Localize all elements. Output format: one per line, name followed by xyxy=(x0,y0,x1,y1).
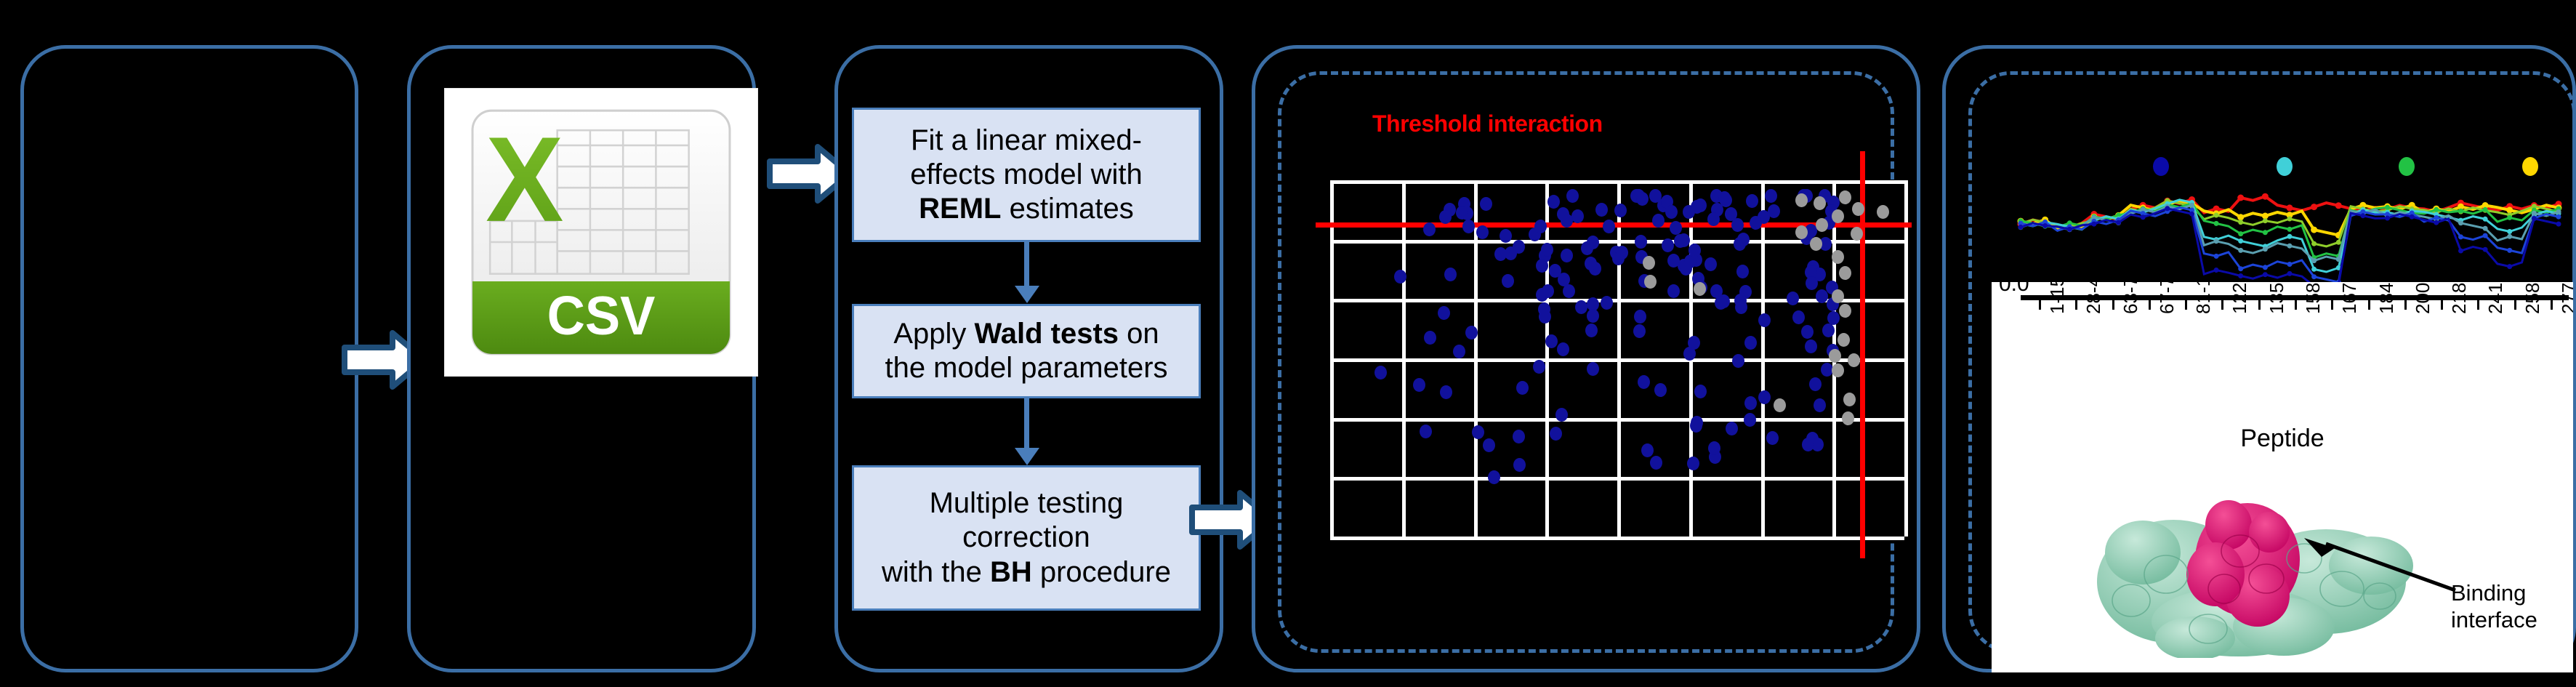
data-point-blue xyxy=(1424,331,1436,345)
x-axis-tick xyxy=(2221,300,2223,310)
data-point-blue xyxy=(1539,310,1551,324)
x-axis-tick-label: 277-284 xyxy=(2558,282,2573,314)
data-point-blue xyxy=(1476,225,1489,239)
flow-connector-1-arrowhead xyxy=(1015,286,1039,303)
chart-marker xyxy=(2507,229,2512,234)
data-point-gray xyxy=(1851,227,1863,241)
data-point-blue xyxy=(1563,284,1575,298)
data-point-blue xyxy=(1801,325,1814,339)
data-point-blue xyxy=(1513,430,1525,443)
chart-marker xyxy=(2214,268,2219,273)
data-point-blue xyxy=(1650,456,1662,470)
binding-label-line2: interface xyxy=(2451,607,2537,634)
data-point-gray xyxy=(1832,289,1844,303)
legend-dot-2 xyxy=(2399,157,2415,176)
data-point-blue xyxy=(1566,189,1579,203)
data-point-gray xyxy=(1832,250,1844,264)
chart-marker xyxy=(2507,264,2512,269)
chart-marker xyxy=(2141,214,2146,220)
grid-line-horizontal xyxy=(1330,180,1904,184)
chart-marker xyxy=(2556,222,2561,227)
chart-marker xyxy=(2165,206,2170,211)
data-point-blue xyxy=(1483,438,1495,452)
data-point-blue xyxy=(1802,438,1814,451)
data-point-blue xyxy=(1792,310,1805,324)
chart-marker xyxy=(2262,193,2269,200)
data-point-blue xyxy=(1654,383,1667,397)
grid-line-horizontal xyxy=(1330,477,1904,481)
chart-marker xyxy=(2263,265,2268,270)
data-point-gray xyxy=(1829,349,1841,363)
data-point-blue xyxy=(1744,336,1757,350)
data-point-blue xyxy=(1444,268,1457,281)
data-point-gray xyxy=(1839,190,1851,204)
data-point-blue xyxy=(1687,457,1699,470)
data-point-blue xyxy=(1603,220,1615,233)
chart-marker xyxy=(2189,212,2194,217)
data-point-blue xyxy=(1678,233,1690,247)
data-point-gray xyxy=(1643,256,1655,270)
data-point-blue xyxy=(1545,334,1558,348)
legend-dot-3 xyxy=(2522,157,2538,176)
chart-marker xyxy=(2311,258,2317,263)
chart-marker xyxy=(2091,222,2096,227)
flow-step-wald-tests[interactable]: Apply Wald tests on the model parameters xyxy=(852,304,1201,398)
data-point-blue xyxy=(1726,422,1738,435)
chart-marker xyxy=(2238,273,2243,278)
data-point-blue xyxy=(1635,235,1647,249)
x-axis-tick xyxy=(2514,300,2516,310)
data-point-blue xyxy=(1737,233,1750,246)
data-point-blue xyxy=(1516,381,1529,395)
data-point-blue xyxy=(1439,210,1452,224)
x-axis-tick xyxy=(2368,300,2370,310)
x-axis-tick xyxy=(2185,300,2187,310)
x-axis-tick xyxy=(2551,300,2553,310)
data-point-blue xyxy=(1822,324,1835,337)
data-point-blue xyxy=(1420,425,1432,438)
data-point-blue xyxy=(1555,408,1568,422)
data-point-blue xyxy=(1505,246,1517,260)
data-point-blue xyxy=(1708,441,1720,455)
data-point-blue xyxy=(1707,212,1720,226)
chart-marker xyxy=(2287,234,2293,239)
data-point-blue xyxy=(1536,259,1548,273)
data-point-blue xyxy=(1670,221,1682,235)
flow-connector-2 xyxy=(1024,398,1029,449)
chart-marker xyxy=(2336,257,2341,262)
data-point-blue xyxy=(1814,398,1826,412)
flow-step-bh-correction[interactable]: Multiple testing correction with the BH … xyxy=(852,465,1201,611)
data-point-blue xyxy=(1690,419,1702,433)
data-point-blue xyxy=(1585,257,1597,270)
chart-marker xyxy=(2116,220,2121,225)
flow-step3-line3-post: procedure xyxy=(1032,556,1171,588)
data-point-gray xyxy=(1852,202,1864,216)
data-point-blue xyxy=(1765,189,1777,203)
x-axis-tick xyxy=(2039,300,2041,310)
data-point-blue xyxy=(1731,218,1744,232)
x-axis-tick xyxy=(2112,300,2114,310)
data-point-gray xyxy=(1838,333,1850,347)
chart-marker xyxy=(2483,233,2488,238)
x-axis-tick-label: 67-75 xyxy=(2156,282,2178,314)
data-point-blue xyxy=(1758,313,1771,327)
data-point-blue xyxy=(1634,310,1646,324)
data-point-blue xyxy=(1571,209,1584,223)
chart-marker xyxy=(2287,204,2293,211)
data-point-blue xyxy=(1744,396,1757,410)
chart-marker xyxy=(2385,216,2390,221)
data-point-blue xyxy=(1641,443,1654,457)
data-point-gray xyxy=(1814,196,1826,210)
x-axis-tick-label: 241-257 xyxy=(2484,282,2507,314)
y-axis-tick-label: 0.0 xyxy=(1999,282,2029,297)
chart-marker xyxy=(2238,248,2243,253)
data-point-blue xyxy=(1667,284,1680,298)
chart-marker xyxy=(2263,230,2268,235)
chart-marker xyxy=(2458,220,2463,225)
data-point-gray xyxy=(1694,282,1706,296)
data-point-gray xyxy=(1795,193,1808,207)
data-point-blue xyxy=(1465,326,1478,340)
csv-icon-label: CSV xyxy=(547,285,656,346)
data-point-blue xyxy=(1394,270,1406,284)
grid-line-horizontal xyxy=(1330,537,1904,540)
x-axis-tick xyxy=(2295,300,2297,310)
csv-icon-x-letter: X xyxy=(486,111,563,246)
chart-marker xyxy=(2018,225,2024,230)
threshold-interaction-label: Threshold interaction xyxy=(1372,111,1603,137)
data-point-blue xyxy=(1616,246,1628,260)
chart-marker xyxy=(2434,220,2439,225)
data-point-blue xyxy=(1472,425,1484,439)
data-point-blue xyxy=(1453,345,1465,358)
chart-marker xyxy=(2532,216,2537,221)
x-axis-tick xyxy=(2441,300,2443,310)
chart-marker xyxy=(2238,266,2243,271)
data-point-blue xyxy=(1649,189,1662,203)
chart-marker xyxy=(2458,209,2463,214)
grid-line-horizontal xyxy=(1330,418,1904,422)
x-axis-tick xyxy=(2331,300,2333,310)
chart-marker xyxy=(2483,247,2488,252)
data-point-gray xyxy=(1848,353,1860,367)
x-axis-tick-label: 63-73 xyxy=(2120,282,2142,314)
chart-marker xyxy=(2238,220,2243,225)
flow-step1-reml: REML xyxy=(919,193,1001,225)
data-point-blue xyxy=(1758,390,1771,404)
chart-marker xyxy=(2483,226,2488,231)
data-point-gray xyxy=(1832,363,1844,377)
x-axis-tick xyxy=(2477,300,2479,310)
csv-file-icon[interactable]: X CSV xyxy=(445,89,757,376)
binding-interface-label: Binding interface xyxy=(2451,580,2537,633)
data-point-blue xyxy=(1704,257,1717,271)
x-axis-tick-label: 135-144 xyxy=(2266,282,2288,314)
data-point-gray xyxy=(1843,393,1856,406)
chart-marker xyxy=(2214,221,2219,226)
peptide-line-chart xyxy=(1992,180,2573,297)
data-point-blue xyxy=(1715,296,1727,310)
data-point-blue xyxy=(1805,340,1817,353)
data-point-blue xyxy=(1746,194,1758,208)
data-point-gray xyxy=(1839,304,1851,318)
data-point-blue xyxy=(1806,276,1818,290)
flow-step1-line2: effects model with xyxy=(910,158,1142,190)
data-point-blue xyxy=(1633,324,1646,338)
chart-marker xyxy=(2507,215,2512,220)
chart-legend xyxy=(1992,154,2573,179)
chart-marker xyxy=(2287,227,2293,232)
data-point-blue xyxy=(1587,236,1599,249)
chart-marker xyxy=(2434,207,2439,212)
chart-marker xyxy=(2506,207,2513,214)
data-point-blue xyxy=(1456,206,1468,220)
line-chart-svg xyxy=(1992,180,2573,297)
x-axis-tick-label: 184-199 xyxy=(2375,282,2398,314)
chart-marker xyxy=(2311,267,2317,272)
chart-marker xyxy=(2287,271,2293,276)
chart-marker xyxy=(2263,272,2268,277)
x-axis-tick-label: 258-266 xyxy=(2521,282,2544,314)
data-point-blue xyxy=(1440,385,1452,399)
data-point-gray xyxy=(1644,275,1657,289)
data-point-blue xyxy=(1683,205,1695,219)
data-point-blue xyxy=(1601,296,1613,310)
chart-marker xyxy=(2287,262,2293,267)
x-axis-tick-label: 1-15 xyxy=(2046,282,2069,314)
data-point-gray xyxy=(1839,266,1851,280)
figure-card: 0.0 1-1528-4463-7367-7581-101122-129135-… xyxy=(1992,282,2573,672)
x-axis-tick-label: 200-214 xyxy=(2412,282,2434,314)
chart-marker xyxy=(2458,249,2463,254)
chart-marker xyxy=(2336,240,2341,245)
x-axis-tick xyxy=(2149,300,2151,310)
data-point-blue xyxy=(1462,220,1475,233)
data-point-gray xyxy=(1842,411,1854,425)
data-point-blue xyxy=(1694,385,1707,398)
data-point-gray xyxy=(1816,218,1828,232)
data-point-blue xyxy=(1735,300,1747,314)
flow-step3-bh: BH xyxy=(990,556,1032,588)
chart-marker xyxy=(2434,215,2439,220)
data-point-gray xyxy=(1832,209,1844,223)
flow-step2-pre: Apply xyxy=(893,318,974,350)
data-point-blue xyxy=(1547,195,1560,209)
chart-marker xyxy=(2311,274,2317,279)
data-point-blue xyxy=(1488,470,1500,484)
data-point-blue xyxy=(1744,413,1756,427)
legend-dot-0 xyxy=(2153,157,2169,176)
x-axis-tick-label: 28-44 xyxy=(2082,282,2105,314)
diagram-canvas: X CSV Fit a linear mixed- effects model … xyxy=(0,0,2576,687)
chart-marker xyxy=(2311,227,2317,233)
data-point-blue xyxy=(1500,229,1512,243)
x-axis-tick xyxy=(2404,300,2407,310)
chart-marker xyxy=(2556,214,2561,220)
chart-marker xyxy=(2214,238,2219,244)
data-point-blue xyxy=(1480,197,1492,211)
x-axis-tick-label: 218-237 xyxy=(2448,282,2471,314)
scatter-plot xyxy=(1330,180,1904,537)
data-point-blue xyxy=(1585,324,1598,337)
flow-step3-line2: correction xyxy=(962,521,1090,553)
flow-step1-line3-rest: estimates xyxy=(1002,193,1134,225)
data-point-blue xyxy=(1665,205,1678,219)
data-point-blue xyxy=(1549,264,1561,278)
data-point-blue xyxy=(1587,362,1599,376)
data-point-blue xyxy=(1542,284,1554,298)
input-panel xyxy=(20,45,358,672)
x-axis-tick-label: 167-180 xyxy=(2338,282,2361,314)
data-point-blue xyxy=(1557,207,1569,221)
data-point-blue xyxy=(1513,458,1526,472)
binding-interface-arrow xyxy=(2297,538,2464,596)
data-point-blue xyxy=(1374,366,1387,379)
data-point-blue xyxy=(1732,354,1744,368)
data-point-blue xyxy=(1423,222,1436,236)
chart-marker xyxy=(2238,238,2243,244)
chart-marker xyxy=(2483,217,2488,222)
chart-marker xyxy=(2214,254,2219,259)
chart-marker xyxy=(2458,234,2463,239)
data-point-blue xyxy=(1718,191,1731,205)
data-point-blue xyxy=(1413,378,1425,392)
data-point-gray xyxy=(1774,398,1786,412)
data-point-blue xyxy=(1766,431,1779,445)
x-axis-tick-label: 122-129 xyxy=(2229,282,2251,314)
data-point-gray xyxy=(1810,237,1822,251)
data-point-blue xyxy=(1689,244,1701,257)
data-point-blue xyxy=(1652,214,1665,228)
data-point-blue xyxy=(1816,289,1828,303)
data-point-blue xyxy=(1575,300,1587,314)
data-point-blue xyxy=(1534,220,1547,233)
chart-marker xyxy=(2238,231,2243,236)
chart-marker xyxy=(2189,203,2194,208)
data-point-blue xyxy=(1680,262,1692,276)
data-point-blue xyxy=(1736,265,1749,278)
chart-marker xyxy=(2214,213,2219,218)
data-point-blue xyxy=(1561,249,1573,262)
chart-marker xyxy=(2287,217,2293,222)
chart-marker xyxy=(2237,214,2244,220)
flow-connector-1 xyxy=(1024,242,1029,287)
chart-marker xyxy=(2532,211,2537,216)
grid-line-horizontal xyxy=(1330,358,1904,362)
binding-label-line1: Binding xyxy=(2451,580,2537,607)
flow-step2-line2: the model parameters xyxy=(885,352,1167,384)
chart-marker xyxy=(2311,204,2317,210)
data-point-blue xyxy=(1533,360,1545,374)
chart-marker xyxy=(2385,205,2390,210)
chart-marker xyxy=(2311,241,2317,246)
chart-marker xyxy=(2262,213,2269,220)
data-point-blue xyxy=(1683,347,1696,361)
data-point-blue xyxy=(1550,427,1562,441)
data-point-gray xyxy=(1877,205,1889,219)
chart-marker xyxy=(2483,207,2488,212)
flow-step1-line1: Fit a linear mixed- xyxy=(911,124,1142,156)
flow-step-fit-model[interactable]: Fit a linear mixed- effects model with R… xyxy=(852,108,1201,242)
x-axis-tick-label: 158-166 xyxy=(2302,282,2325,314)
flow-step3-line3-pre: with the xyxy=(882,556,990,588)
data-point-blue xyxy=(1587,309,1599,323)
data-point-blue xyxy=(1557,342,1569,356)
chart-marker xyxy=(2237,195,2244,201)
flow-connector-2-arrowhead xyxy=(1015,448,1039,465)
chart-marker xyxy=(2287,244,2293,249)
chart-marker xyxy=(2507,248,2512,253)
chart-marker xyxy=(2067,227,2072,232)
grid-line-vertical xyxy=(1904,180,1908,537)
flow-step3-line1: Multiple testing xyxy=(930,487,1124,519)
chart-marker xyxy=(2042,223,2048,228)
data-point-gray xyxy=(1795,225,1808,239)
chart-marker xyxy=(2410,214,2415,220)
data-point-blue xyxy=(1636,192,1649,206)
data-point-blue xyxy=(1595,203,1608,217)
chart-marker xyxy=(2507,234,2512,239)
chart-marker xyxy=(2360,213,2365,218)
flow-step2-post: on xyxy=(1119,318,1159,350)
data-point-blue xyxy=(1614,204,1627,217)
data-point-blue xyxy=(1638,375,1650,389)
flow-step2-wald: Wald tests xyxy=(975,318,1119,350)
x-axis-title: Peptide xyxy=(1992,425,2573,453)
data-point-blue xyxy=(1502,274,1514,288)
chart-marker xyxy=(2556,209,2561,214)
x-axis-tick xyxy=(2075,300,2077,310)
data-point-blue xyxy=(1809,377,1822,391)
chart-marker xyxy=(2263,218,2268,223)
data-point-blue xyxy=(1541,243,1553,257)
data-point-blue xyxy=(1787,292,1799,305)
data-point-blue xyxy=(1750,216,1762,230)
legend-dot-1 xyxy=(2277,157,2293,176)
chart-marker xyxy=(2263,246,2268,252)
x-axis-tick xyxy=(2258,300,2261,310)
data-point-blue xyxy=(1662,238,1674,252)
x-axis-tick-label: 81-101 xyxy=(2192,282,2215,314)
chart-marker xyxy=(2335,202,2342,209)
data-point-blue xyxy=(1827,311,1840,325)
data-point-blue xyxy=(1438,306,1450,320)
